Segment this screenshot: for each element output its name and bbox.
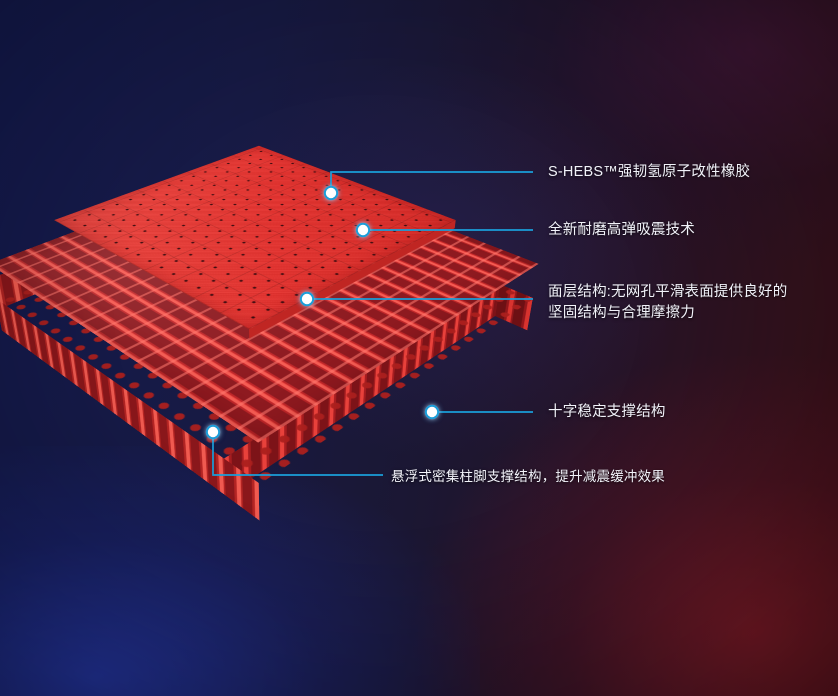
annotation-5-text: 悬浮式密集柱脚支撑结构，提升减震缓冲效果 bbox=[391, 469, 665, 484]
leader-dot-2 bbox=[357, 224, 369, 236]
annotation-3-text-line1: 面层结构:无网孔平滑表面提供良好的 bbox=[548, 284, 787, 300]
annotation-label-5: 悬浮式密集柱脚支撑结构，提升减震缓冲效果 bbox=[391, 466, 665, 487]
annotation-2-text: 全新耐磨高弹吸震技术 bbox=[548, 222, 695, 238]
leader-dot-3 bbox=[301, 293, 313, 305]
annotation-3-text-line2: 坚固结构与合理摩擦力 bbox=[548, 305, 695, 321]
leader-dot-1 bbox=[325, 187, 337, 199]
product-infographic: S-HEBS™强韧氢原子改性橡胶 全新耐磨高弹吸震技术 面层结构:无网孔平滑表面… bbox=[0, 0, 838, 696]
annotation-label-3: 面层结构:无网孔平滑表面提供良好的 坚固结构与合理摩擦力 bbox=[548, 282, 834, 324]
annotation-1-text: S-HEBS™强韧氢原子改性橡胶 bbox=[548, 164, 750, 180]
annotation-4-text: 十字稳定支撑结构 bbox=[548, 404, 666, 420]
leader-dot-4 bbox=[426, 406, 438, 418]
leader-path-1 bbox=[331, 172, 533, 193]
headline-block: 悬浮地板 TPES强分子弹性体材料 bbox=[0, 522, 838, 642]
annotation-label-2: 全新耐磨高弹吸震技术 bbox=[548, 220, 695, 241]
annotation-label-1: S-HEBS™强韧氢原子改性橡胶 bbox=[548, 162, 750, 183]
leader-dot-5 bbox=[207, 426, 219, 438]
annotation-label-4: 十字稳定支撑结构 bbox=[548, 402, 666, 423]
leader-path-5 bbox=[213, 432, 383, 475]
